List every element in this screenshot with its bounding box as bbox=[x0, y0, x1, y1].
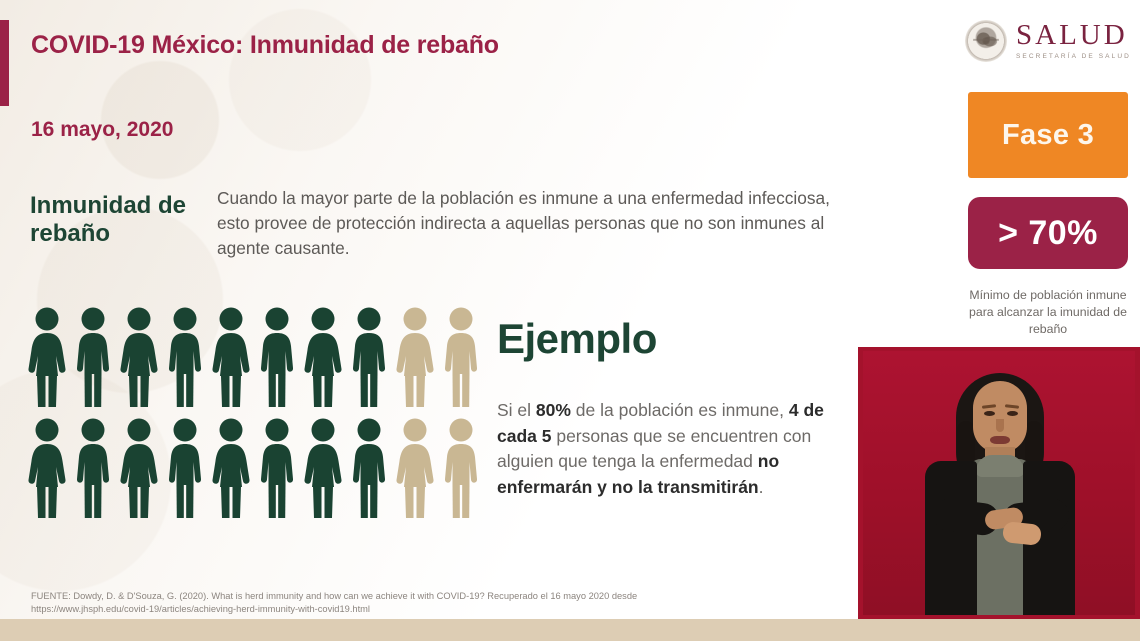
logo-wordmark: SALUD bbox=[1016, 21, 1131, 50]
interpreter-eye-right bbox=[1007, 411, 1018, 416]
example-segment-0: Si el bbox=[497, 400, 536, 420]
person-icon-male-immune bbox=[254, 417, 300, 520]
source-line-2: https://www.jhsph.edu/covid-19/articles/… bbox=[31, 603, 861, 616]
pictogram-chart bbox=[24, 306, 484, 528]
person-icon-female-not-immune bbox=[392, 306, 438, 409]
person-icon-female-immune bbox=[208, 417, 254, 520]
bottom-accent-bar bbox=[0, 619, 1140, 641]
salud-logo: SALUD SECRETARÍA DE SALUD bbox=[965, 20, 1131, 62]
logo-subtitle: SECRETARÍA DE SALUD bbox=[1016, 54, 1131, 61]
definition-text: Cuando la mayor parte de la población es… bbox=[217, 186, 847, 261]
pictogram-row bbox=[24, 306, 484, 409]
interpreter-collar bbox=[976, 455, 1024, 477]
interpreter-nose bbox=[996, 419, 1004, 432]
person-icon-female-not-immune bbox=[392, 417, 438, 520]
definition-label: Inmunidad de rebaño bbox=[30, 192, 210, 248]
person-icon-male-immune bbox=[70, 417, 116, 520]
interpreter-eye-left bbox=[984, 411, 995, 416]
source-note: FUENTE: Dowdy, D. & D'Souza, G. (2020). … bbox=[31, 590, 861, 617]
source-line-1: FUENTE: Dowdy, D. & D'Souza, G. (2020). … bbox=[31, 590, 861, 603]
person-icon-female-immune bbox=[116, 417, 162, 520]
person-icon-male-immune bbox=[346, 306, 392, 409]
person-icon-female-immune bbox=[116, 306, 162, 409]
logo-text: SALUD SECRETARÍA DE SALUD bbox=[1016, 21, 1131, 61]
person-icon-male-immune bbox=[162, 417, 208, 520]
person-icon-female-immune bbox=[24, 306, 70, 409]
person-icon-female-immune bbox=[24, 417, 70, 520]
example-segment-6: . bbox=[759, 477, 764, 497]
page-title: COVID-19 México: Inmunidad de rebaño bbox=[31, 31, 499, 60]
person-icon-male-immune bbox=[162, 306, 208, 409]
sign-language-video-panel[interactable] bbox=[858, 347, 1140, 619]
video-frame bbox=[863, 351, 1135, 615]
person-icon-male-immune bbox=[70, 306, 116, 409]
person-icon-female-immune bbox=[300, 417, 346, 520]
slide-date: 16 mayo, 2020 bbox=[31, 118, 173, 142]
phase-badge: Fase 3 bbox=[968, 92, 1128, 178]
interpreter-cardigan-left bbox=[925, 461, 977, 615]
threshold-badge: > 70% bbox=[968, 197, 1128, 269]
example-heading: Ejemplo bbox=[497, 315, 657, 363]
person-icon-male-not-immune bbox=[438, 306, 484, 409]
threshold-value: > 70% bbox=[998, 214, 1098, 253]
example-segment-2: de la población es inmune, bbox=[571, 400, 789, 420]
interpreter-hand-right bbox=[1002, 521, 1042, 546]
person-icon-female-immune bbox=[208, 306, 254, 409]
example-segment-1: 80% bbox=[536, 400, 571, 420]
pictogram-row bbox=[24, 417, 484, 520]
person-icon-male-immune bbox=[254, 306, 300, 409]
slide-root: COVID-19 México: Inmunidad de rebaño 16 … bbox=[0, 0, 1140, 641]
mexican-eagle-seal-icon bbox=[965, 20, 1007, 62]
example-text: Si el 80% de la población es inmune, 4 d… bbox=[497, 398, 847, 501]
person-icon-male-not-immune bbox=[438, 417, 484, 520]
interpreter-mouth bbox=[990, 436, 1010, 444]
person-icon-female-immune bbox=[300, 306, 346, 409]
threshold-caption: Mínimo de población inmune para alcanzar… bbox=[958, 287, 1138, 338]
person-icon-male-immune bbox=[346, 417, 392, 520]
left-accent-bar bbox=[0, 20, 9, 106]
phase-label: Fase 3 bbox=[1002, 119, 1094, 152]
